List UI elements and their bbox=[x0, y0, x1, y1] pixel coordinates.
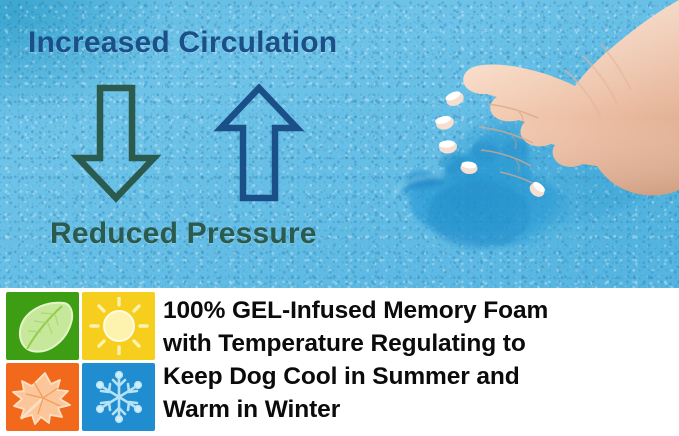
foam-photo-panel: Increased Circulation Reduced Pressure bbox=[0, 0, 679, 288]
reduced-pressure-label: Reduced Pressure bbox=[50, 217, 317, 251]
feature-headline-line: 100% GEL-Infused Memory Foam bbox=[163, 294, 675, 327]
season-tile-spring bbox=[6, 292, 79, 360]
hand-on-foam-illustration bbox=[369, 0, 679, 288]
season-tile-winter bbox=[82, 363, 155, 431]
feature-band: 100% GEL-Infused Memory Foam with Temper… bbox=[0, 288, 679, 436]
product-infographic: Increased Circulation Reduced Pressure bbox=[0, 0, 679, 436]
feature-headline-line: Keep Dog Cool in Summer and bbox=[163, 360, 675, 393]
maple-leaf-icon bbox=[12, 368, 74, 426]
feature-headline-line: with Temperature Regulating to bbox=[163, 327, 675, 360]
down-arrow-icon bbox=[66, 82, 166, 204]
feature-headline: 100% GEL-Infused Memory Foam with Temper… bbox=[163, 294, 675, 426]
feature-headline-line: Warm in Winter bbox=[163, 393, 675, 426]
increased-circulation-label: Increased Circulation bbox=[28, 26, 337, 60]
season-tile-autumn bbox=[6, 363, 79, 431]
leaf-icon bbox=[12, 297, 74, 355]
up-arrow-icon bbox=[209, 82, 309, 204]
hand-photo-region bbox=[369, 0, 679, 288]
sun-icon bbox=[89, 297, 149, 355]
season-icon-grid bbox=[6, 292, 156, 431]
season-tile-summer bbox=[82, 292, 155, 360]
snowflake-icon bbox=[89, 368, 149, 426]
